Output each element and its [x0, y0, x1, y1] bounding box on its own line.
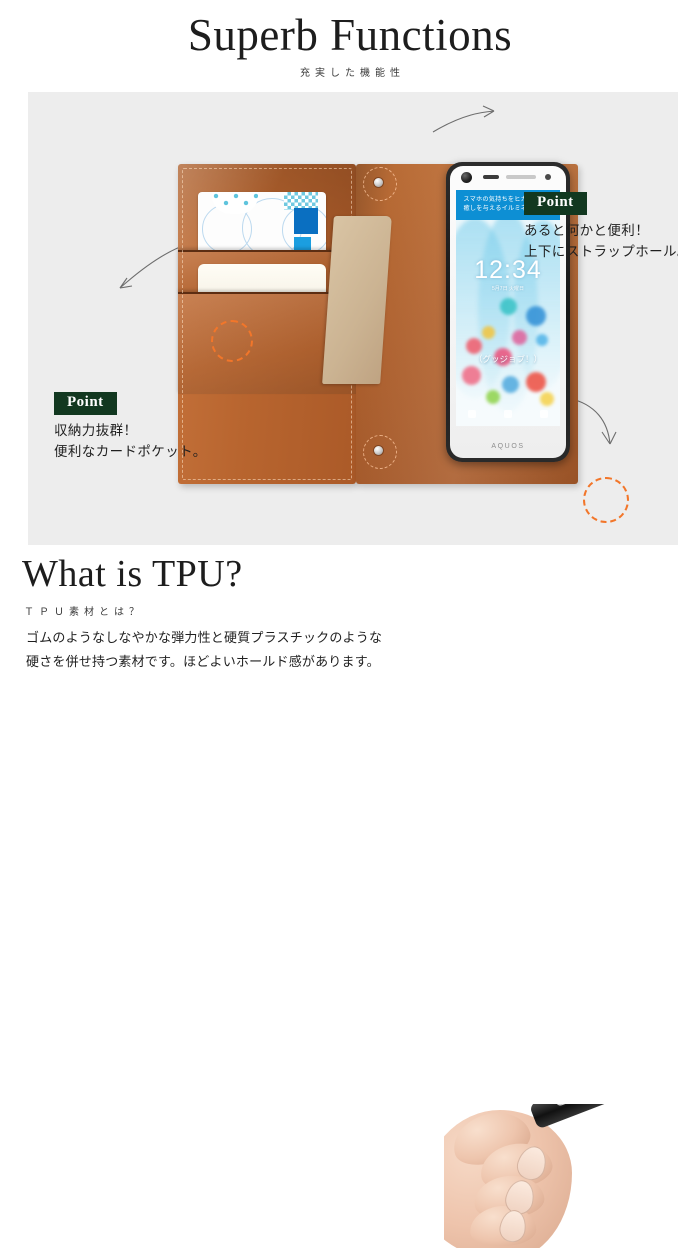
callout-card-pocket: Point 収納力抜群！ 便利なカードポケット。	[54, 392, 207, 462]
tpu-body-line-1: ゴムのようなしなやかな弾力性と硬質プラスチックのような	[26, 626, 436, 650]
highlight-circle-card-pocket	[211, 320, 253, 362]
wallpaper-bubble-3	[482, 326, 495, 339]
callout-strap-line-1: あると何かと便利！	[524, 220, 678, 241]
phone-top-bezel	[450, 166, 566, 188]
lockscreen-dock	[456, 408, 560, 422]
tpu-body-line-2: 硬さを併せ持つ素材です。ほどよいホールド感があります。	[26, 650, 436, 674]
front-camera-icon	[461, 172, 472, 183]
wallpaper-bubble-9	[502, 376, 519, 393]
paper-sleeve	[322, 216, 392, 384]
camera-app-icon	[540, 410, 548, 418]
wallpaper-bubble-2	[526, 306, 546, 326]
phone-brand-label: AQUOS	[450, 443, 566, 450]
product-photo-panel: スマホの気持ちをヒカリで表現 癒しを与えるイルミネーション 12:34 5月7日…	[28, 92, 678, 545]
arrow-strap-path	[433, 111, 494, 132]
wallpaper-bubble-12	[540, 392, 554, 406]
wallpaper-bubble-6	[466, 338, 482, 354]
snap-rivet-bottom	[374, 446, 383, 455]
highlight-circle-tpu-edge	[583, 477, 629, 523]
lock-app-icon	[504, 410, 512, 418]
callout-strap-hole: Point あると何かと便利！ 上下にストラップホール。	[524, 192, 678, 262]
page-subtitle: 充実した機能性	[0, 64, 700, 79]
tpu-title: What is TPU?	[22, 555, 243, 593]
wallpaper-bubble-1	[500, 298, 517, 315]
callout-pocket-line-1: 収納力抜群！	[54, 420, 207, 441]
wallpaper-bubble-11	[486, 390, 500, 404]
tpu-subtitle: ＴＰＵ素材とは？	[24, 603, 144, 618]
page-header: Superb Functions 充実した機能性	[0, 0, 700, 92]
tpu-case-black	[529, 1104, 678, 1129]
speaker-slot	[506, 175, 536, 179]
lockscreen-date: 5月7日 火曜日	[456, 285, 560, 292]
wallpaper-bubble-10	[526, 372, 546, 392]
hand-holding-phone-photo	[444, 1104, 678, 1248]
stored-card-patterned	[198, 192, 326, 254]
tpu-body-text: ゴムのようなしなやかな弾力性と硬質プラスチックのような 硬さを併せ持つ素材です。…	[26, 626, 436, 674]
wallpaper-bubble-4	[512, 330, 527, 345]
screen-caption: （グッジョブ！）	[456, 353, 560, 365]
earpiece-speaker	[483, 175, 499, 179]
wallpaper-bubble-8	[462, 366, 481, 385]
callout-strap-line-2: 上下にストラップホール。	[524, 241, 678, 262]
callout-pocket-line-2: 便利なカードポケット。	[54, 441, 207, 462]
phone-app-icon	[468, 410, 476, 418]
proximity-sensor-icon	[545, 174, 551, 180]
tpu-explainer-section: What is TPU? ＴＰＵ素材とは？ ゴムのようなしなやかな弾力性と硬質プ…	[0, 548, 700, 700]
card-blue-square-large	[294, 208, 318, 234]
wallpaper-bubble-5	[536, 334, 548, 346]
point-badge-pocket: Point	[54, 392, 117, 415]
snap-rivet-top	[374, 178, 383, 187]
point-badge-strap: Point	[524, 192, 587, 215]
page-title: Superb Functions	[0, 13, 700, 58]
